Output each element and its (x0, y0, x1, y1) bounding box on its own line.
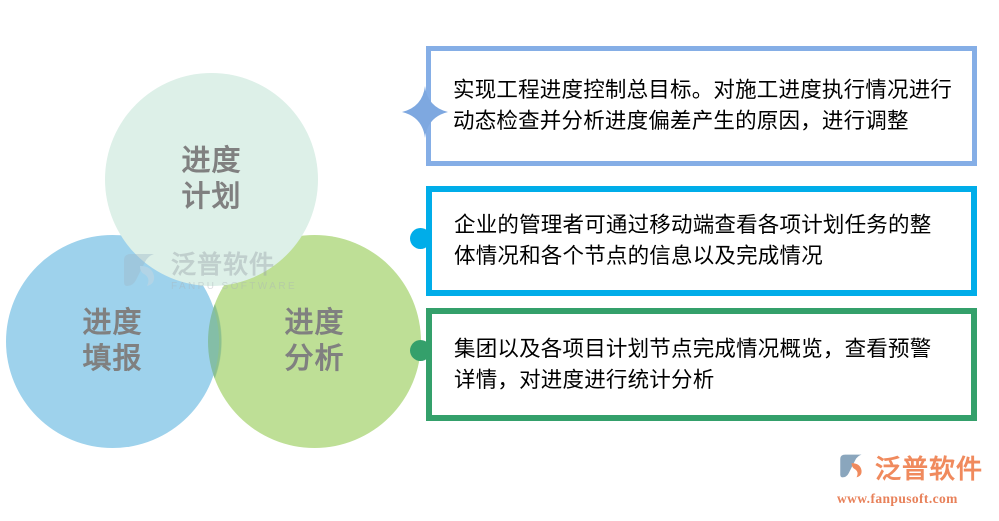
venn-circle-plan-label: 进度 计划 (181, 144, 241, 215)
venn-circle-report-label-line1: 进度 (82, 306, 142, 341)
info-box-group: 实现工程进度控制总目标。对施工进度执行情况进行动态检查并分析进度偏差产生的原因，… (420, 0, 999, 521)
venn-circle-plan-label-line2: 计划 (181, 180, 241, 215)
fanpu-brand-icon (835, 449, 871, 488)
info-box-schedule-analysis-text: 集团以及各项目计划节点完成情况概览，查看预警详情，对进度进行统计分析 (432, 334, 971, 395)
info-box-schedule-plan-text: 实现工程进度控制总目标。对施工进度执行情况进行动态检查并分析进度偏差产生的原因，… (431, 75, 972, 136)
info-box-schedule-report: 企业的管理者可通过移动端查看各项计划任务的整体情况和各个节点的信息以及完成情况 (426, 186, 977, 296)
venn-circle-report-label-line2: 填报 (82, 342, 142, 377)
venn-circle-plan-label-line1: 进度 (181, 144, 241, 179)
brand-logo-url: www.fanpusoft.com (837, 491, 958, 507)
info-box-schedule-report-text: 企业的管理者可通过移动端查看各项计划任务的整体情况和各个节点的信息以及完成情况 (432, 210, 971, 271)
venn-circle-report-label: 进度 填报 (82, 306, 142, 377)
venn-circle-analysis-label-line2: 分析 (284, 342, 344, 377)
brand-logo: 泛普软件 www.fanpusoft.com (835, 449, 983, 507)
venn-diagram: 进度 计划 进度 填报 进度 分析 泛普软件 FANPU SOFTWARE (0, 0, 400, 521)
brand-logo-cn: 泛普软件 (875, 456, 983, 482)
info-box-schedule-analysis: 集团以及各项目计划节点完成情况概览，查看预警详情，对进度进行统计分析 (426, 308, 977, 421)
brand-logo-row: 泛普软件 (835, 449, 983, 488)
venn-circle-plan: 进度 计划 (105, 73, 318, 286)
venn-circle-analysis-label-line1: 进度 (284, 306, 344, 341)
venn-circle-analysis-label: 进度 分析 (284, 306, 344, 377)
info-box-schedule-plan: 实现工程进度控制总目标。对施工进度执行情况进行动态检查并分析进度偏差产生的原因，… (426, 46, 977, 166)
